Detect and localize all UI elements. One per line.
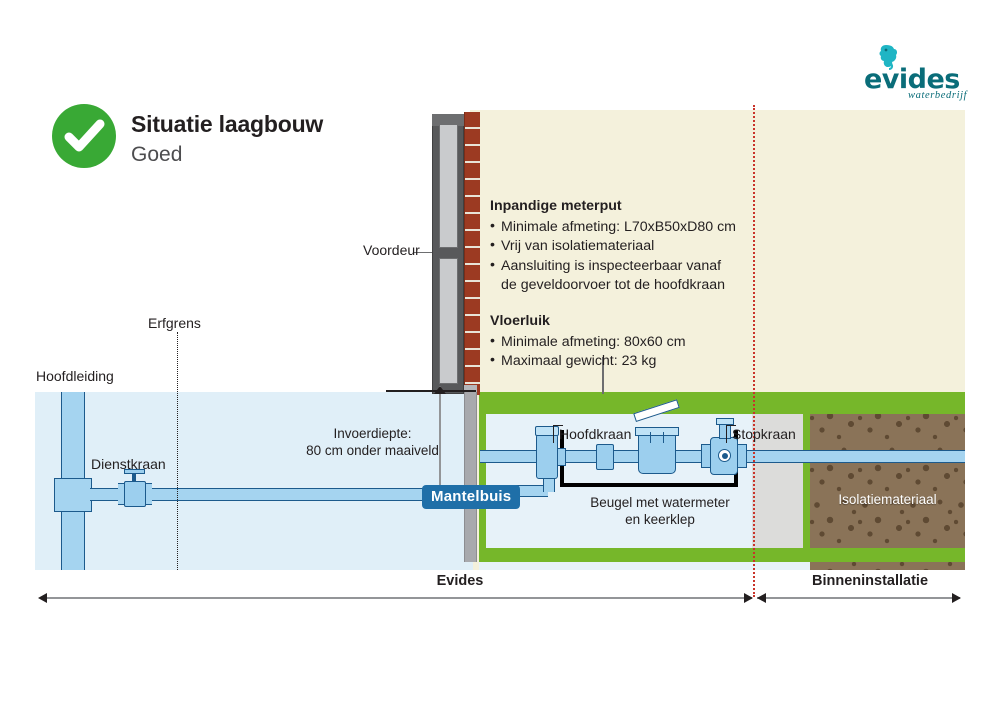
bullet-text: Maximaal gewicht: 23 kg bbox=[501, 353, 656, 369]
zone-label-evides: Evides bbox=[395, 573, 525, 589]
info-section-vloerluik: Vloerluik Minimale afmeting: 80x60 cm Ma… bbox=[490, 312, 762, 372]
zone-axis-arrow-right-end bbox=[952, 593, 961, 603]
soil-ground-area bbox=[35, 392, 473, 570]
ground-level-line bbox=[386, 390, 476, 392]
info-heading-meterput: Inpandige meterput bbox=[490, 197, 762, 217]
main-pipe-tee-fitting bbox=[54, 478, 92, 512]
stopkraan-right-flange bbox=[737, 444, 747, 468]
diagram-canvas: Hoofdleiding Dienstkraan Voordeur Erfgre… bbox=[0, 0, 1000, 707]
list-item: Aansluiting is inspecteerbaar vanafde ge… bbox=[490, 257, 762, 296]
floor-band-right bbox=[802, 392, 965, 414]
hoofdkraan-collar bbox=[557, 448, 566, 466]
label-mantelbuis-badge: Mantelbuis bbox=[422, 485, 520, 509]
front-door-glass-upper bbox=[439, 124, 458, 248]
info-heading-vloerluik: Vloerluik bbox=[490, 312, 762, 332]
bullet-text: Minimale afmeting: L70xB50xD80 cm bbox=[501, 219, 736, 235]
info-panel: Inpandige meterput Minimale afmeting: L7… bbox=[490, 197, 762, 372]
zone-axis-left bbox=[40, 597, 752, 599]
foundation-wall bbox=[464, 392, 477, 562]
label-invoerdiepte-line1: Invoerdiepte: bbox=[285, 425, 460, 442]
watermeter-divider-2 bbox=[663, 432, 664, 443]
page-subtitle: Goed bbox=[131, 143, 182, 167]
label-stopkraan: Stopkraan bbox=[732, 426, 796, 442]
bullet-text: Minimale afmeting: 80x60 cm bbox=[501, 334, 686, 350]
front-door-glass-lower bbox=[439, 258, 458, 384]
zone-axis-arrow-left-start bbox=[38, 593, 47, 603]
label-hoofdleiding: Hoofdleiding bbox=[36, 368, 114, 384]
watermeter-divider-1 bbox=[650, 432, 651, 443]
label-hoofdkraan: Hoofdkraan bbox=[559, 426, 631, 442]
info-section-meterput: Inpandige meterput Minimale afmeting: L7… bbox=[490, 197, 762, 296]
stopkraan-cap bbox=[716, 418, 734, 425]
list-item: Minimale afmeting: L70xB50xD80 cm bbox=[490, 218, 762, 238]
pipe-coupling-nut bbox=[596, 444, 614, 470]
check-circle-icon bbox=[52, 104, 116, 168]
label-invoerdiepte-line2: 80 cm onder maaiveld bbox=[285, 442, 460, 459]
insulation-material-block bbox=[810, 392, 965, 570]
label-beugel-line2: en keerklep bbox=[585, 511, 735, 528]
label-invoerdiepte: Invoerdiepte: 80 cm onder maaiveld bbox=[285, 425, 460, 459]
bullet-text: Aansluiting is inspecteerbaar vanaf bbox=[501, 258, 721, 274]
list-item: Minimale afmeting: 80x60 cm bbox=[490, 333, 762, 353]
label-voordeur: Voordeur bbox=[363, 242, 420, 258]
dienstkraan-stem bbox=[132, 473, 136, 482]
zone-label-binneninstallatie: Binneninstallatie bbox=[795, 573, 945, 589]
info-bullets-meterput: Minimale afmeting: L70xB50xD80 cm Vrij v… bbox=[490, 218, 762, 296]
zone-axis-arrow-right-start bbox=[757, 593, 766, 603]
zone-axis-arrow-left-end bbox=[744, 593, 753, 603]
watermeter-neck bbox=[635, 427, 679, 436]
brand-tagline: waterbedrijf bbox=[908, 90, 967, 101]
label-beugel: Beugel met watermeter en keerklep bbox=[585, 494, 735, 528]
watermeter-body bbox=[638, 432, 676, 474]
page-title: Situatie laagbouw bbox=[131, 111, 323, 138]
below-pit-strip bbox=[479, 562, 810, 570]
list-item: Maximaal gewicht: 23 kg bbox=[490, 352, 762, 372]
bullet-continuation: de geveldoorvoer tot de hoofdkraan bbox=[501, 276, 762, 296]
property-boundary-line bbox=[177, 332, 178, 570]
dienstkraan-valve-body bbox=[124, 481, 146, 507]
label-isolatiemateriaal: Isolatiemateriaal bbox=[810, 492, 965, 507]
info-spacer bbox=[490, 296, 762, 312]
label-erfgrens: Erfgrens bbox=[148, 315, 201, 331]
brand-logo[interactable]: evides waterbedrijf bbox=[862, 44, 982, 104]
brick-facade-wall bbox=[464, 112, 480, 395]
stopkraan-handle-center bbox=[722, 453, 728, 459]
zone-axis-right bbox=[757, 597, 960, 599]
label-dienstkraan: Dienstkraan bbox=[91, 456, 166, 472]
bullet-text: Vrij van isolatiemateriaal bbox=[501, 238, 654, 254]
list-item: Vrij van isolatiemateriaal bbox=[490, 237, 762, 257]
depth-arrow-top bbox=[434, 386, 446, 394]
label-beugel-line1: Beugel met watermeter bbox=[585, 494, 735, 511]
dienstkraan-right-flange bbox=[145, 483, 152, 505]
info-bullets-vloerluik: Minimale afmeting: 80x60 cm Maximaal gew… bbox=[490, 333, 762, 372]
